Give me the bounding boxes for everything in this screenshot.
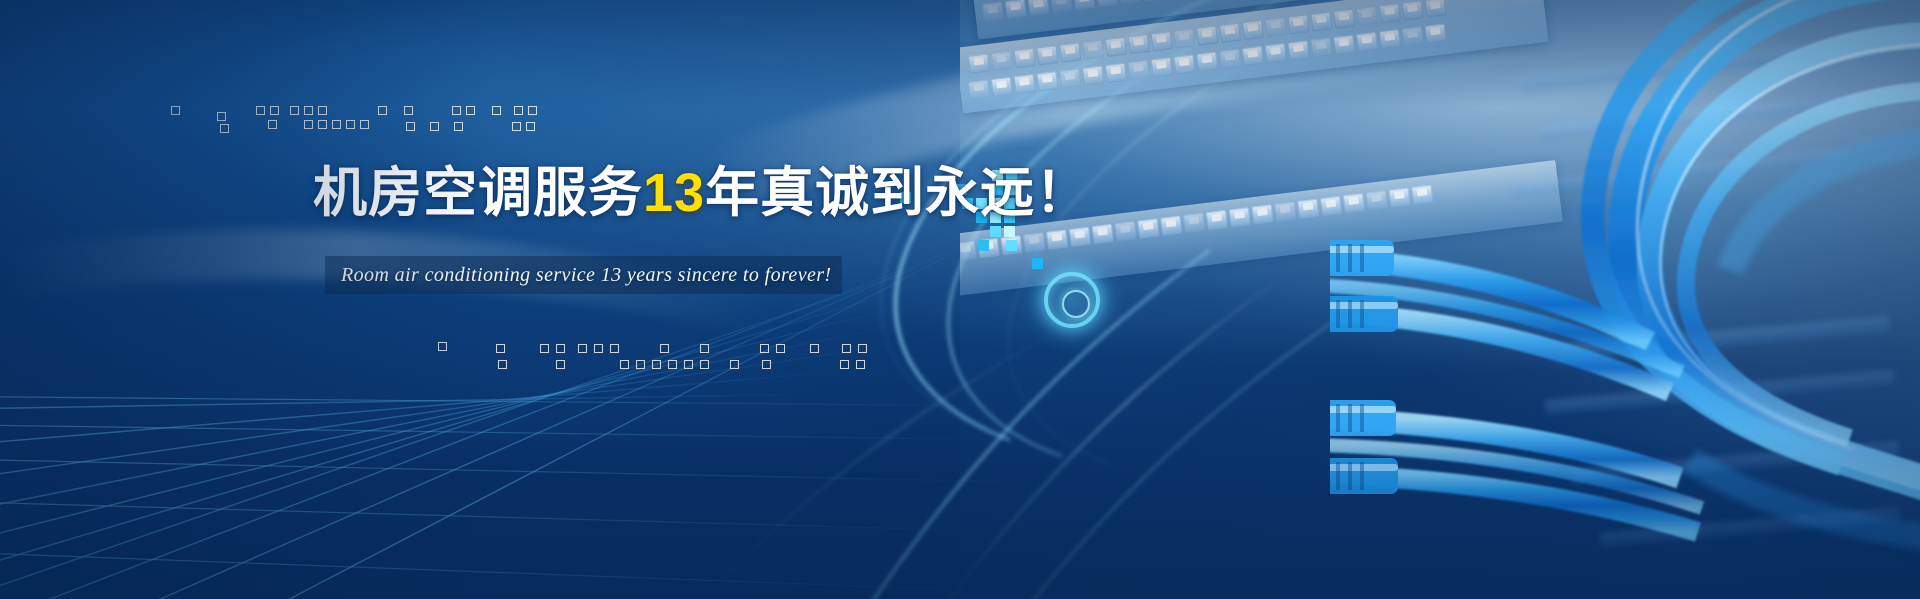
page-title: 机房空调服务13年真诚到永远！	[313, 166, 1090, 220]
subtitle: Room air conditioning service 13 years s…	[341, 257, 831, 293]
headline-prefix: 机房空调服务	[313, 163, 643, 223]
subtitle-text: Room air conditioning service 13 years s…	[341, 264, 832, 287]
headline-suffix: 年真诚到永远！	[705, 163, 1090, 223]
hero-banner: 机房空调服务13年真诚到永远！ Room air conditioning se…	[0, 0, 1920, 599]
headline-highlight-years: 13	[643, 163, 705, 223]
